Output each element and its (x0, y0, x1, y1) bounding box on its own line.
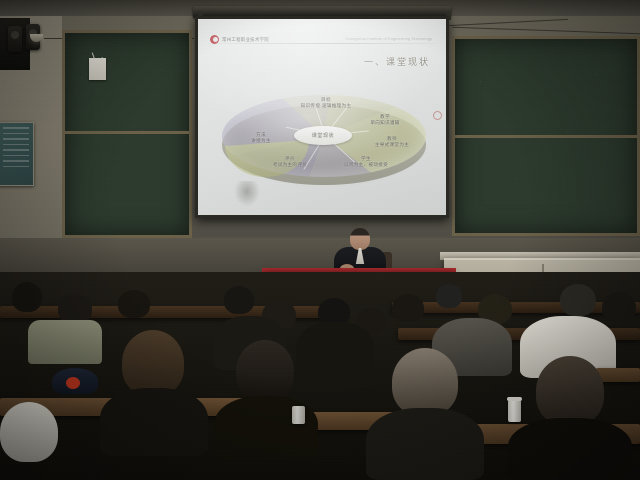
thermos-cup (508, 400, 521, 422)
pie-segment-label-4: 学生 以听为主、被动接受 (330, 157, 402, 169)
baseball-cap (52, 368, 98, 394)
powerpoint-slide: 常州工程职业技术学院 Changzhou Institute of Engine… (198, 19, 446, 215)
board-divider (65, 131, 189, 134)
audience-shoulders-front (508, 418, 632, 480)
audience-head (560, 284, 596, 316)
header-rule (208, 43, 436, 44)
audience-head (118, 290, 150, 318)
audience-head-front-light (0, 402, 58, 462)
pie-segment-label-1: 目标 知识传授 逻辑推理为主 (290, 98, 362, 110)
blackboard-left (62, 30, 192, 238)
chalk-dust (65, 33, 189, 235)
slide-corner-marker (433, 111, 442, 120)
audience-shoulders-front (100, 388, 208, 456)
audience-head-front (122, 330, 184, 396)
presenter-head (350, 228, 370, 250)
wall-speaker-left (8, 26, 22, 52)
thermos-cup-2 (292, 406, 305, 424)
pie-segment-label-3: 教师 主导式课堂为主 (358, 137, 426, 149)
pie-chart: 目标 知识传授 逻辑推理为主 教学 单向知识灌输 教师 主导式课堂为主 学生 以… (212, 71, 438, 199)
audience-head (602, 292, 636, 322)
pie-segment-label-6: 方法 讲授为主 (232, 133, 290, 145)
cap-logo-icon (66, 377, 80, 389)
blackboard-right (452, 36, 640, 236)
audience-head-front (236, 340, 294, 402)
pie-segment-label-5: 评价 考试为主的评价 (258, 157, 322, 169)
audience-area (0, 272, 640, 480)
pie-segment-label-2: 教学 单向知识灌输 (352, 115, 418, 127)
cup-lid (507, 397, 522, 401)
slide-header: 常州工程职业技术学院 Changzhou Institute of Engine… (198, 33, 446, 55)
backpack (28, 320, 102, 364)
posted-paper (89, 58, 106, 80)
audience-head (224, 286, 254, 314)
logo-text: 常州工程职业技术学院 (222, 37, 269, 43)
audience-head (392, 294, 424, 322)
board-divider-right (455, 135, 637, 138)
slide-title: 一、课堂现状 (364, 55, 430, 68)
bench-side-right (596, 368, 640, 382)
audience-head-front (392, 348, 458, 416)
audience-shoulders (296, 322, 374, 378)
audience-head-front (536, 356, 604, 426)
audience-head (12, 282, 42, 312)
pie-center-label: 课堂现状 (294, 126, 352, 145)
projection-screen: 常州工程职业技术学院 Changzhou Institute of Engine… (195, 16, 449, 218)
audience-head (436, 284, 462, 308)
lecture-hall-photo: 常州工程职业技术学院 Changzhou Institute of Engine… (0, 0, 640, 480)
wall-plaque (0, 122, 34, 186)
projector-shadow (234, 181, 260, 207)
audience-shoulders-front (366, 408, 484, 480)
header-english-text: Changzhou Institute of Engineering Techn… (345, 37, 432, 41)
